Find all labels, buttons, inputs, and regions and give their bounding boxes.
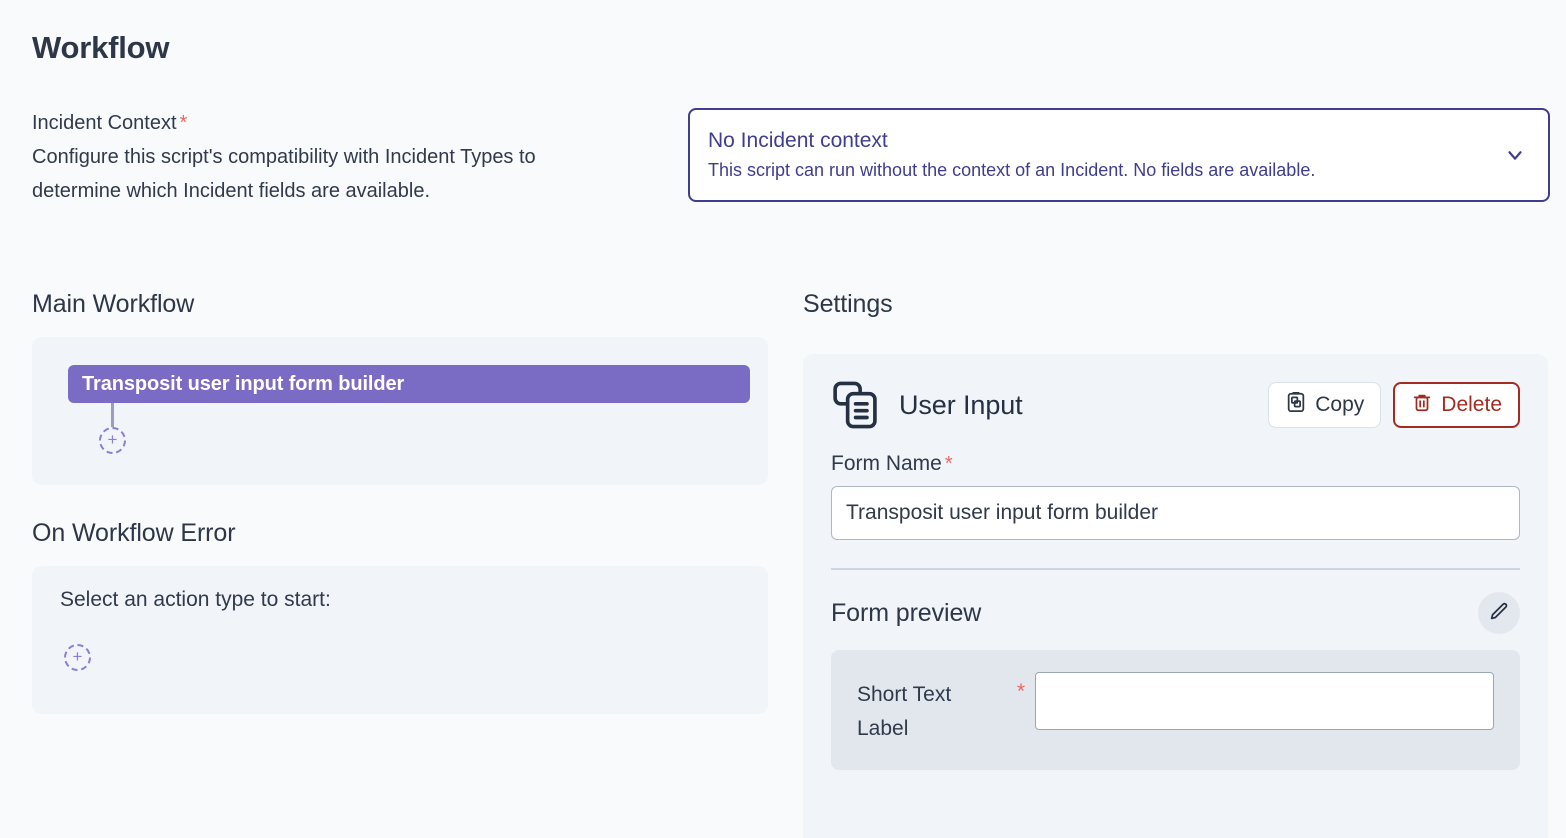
chevron-down-icon[interactable] <box>1504 144 1526 166</box>
trash-icon <box>1411 391 1433 419</box>
incident-context-select[interactable]: No Incident context This script can run … <box>688 108 1550 202</box>
incident-context-label: Incident Context* <box>32 108 632 139</box>
delete-button[interactable]: Delete <box>1393 382 1520 428</box>
user-input-icon <box>831 380 887 430</box>
incident-context-text-block: Incident Context* Configure this script'… <box>32 108 632 208</box>
clipboard-copy-icon <box>1285 391 1307 419</box>
add-step-button-error[interactable]: + <box>64 644 91 671</box>
form-preview-header: Form preview <box>831 592 1520 634</box>
workflow-error-heading: On Workflow Error <box>32 519 800 548</box>
incident-context-select-text: No Incident context This script can run … <box>708 126 1488 184</box>
preview-field-input[interactable] <box>1035 672 1494 730</box>
form-preview-body: Short Text Label * <box>831 650 1520 770</box>
incident-context-selected-title: No Incident context <box>708 126 1488 155</box>
settings-panel-title: User Input <box>899 390 1268 421</box>
form-name-label: Form Name* <box>831 452 1520 476</box>
workflow-node-label: Transposit user input form builder <box>82 373 404 396</box>
settings-heading: Settings <box>803 290 1566 319</box>
incident-context-row: Incident Context* Configure this script'… <box>0 108 1566 248</box>
incident-context-description: Configure this script's compatibility wi… <box>32 140 602 208</box>
workflow-error-canvas: Select an action type to start: + <box>32 566 768 714</box>
required-asterisk: * <box>1007 672 1035 704</box>
form-name-input[interactable] <box>831 486 1520 540</box>
preview-field-label: Short Text Label <box>857 672 1007 745</box>
required-asterisk: * <box>945 453 953 475</box>
workflow-node-user-input[interactable]: Transposit user input form builder <box>68 365 750 403</box>
page-title: Workflow <box>32 30 169 66</box>
settings-panel-header: User Input Copy <box>831 380 1520 430</box>
required-asterisk: * <box>180 112 188 134</box>
main-workflow-canvas: Transposit user input form builder + <box>32 337 768 485</box>
workflow-error-prompt: Select an action type to start: <box>60 588 331 612</box>
plus-icon: + <box>108 431 118 448</box>
add-step-button-main[interactable]: + <box>99 427 126 454</box>
main-workflow-heading: Main Workflow <box>32 290 800 319</box>
node-connector-line <box>111 403 114 427</box>
delete-button-label: Delete <box>1441 393 1502 417</box>
settings-panel: User Input Copy <box>803 354 1548 838</box>
copy-button[interactable]: Copy <box>1268 382 1381 428</box>
form-name-label-text: Form Name <box>831 452 942 475</box>
settings-divider <box>831 568 1520 570</box>
form-preview-title: Form preview <box>831 599 981 628</box>
incident-context-selected-subtitle: This script can run without the context … <box>708 158 1488 183</box>
edit-form-button[interactable] <box>1478 592 1520 634</box>
plus-icon: + <box>73 648 83 665</box>
workflow-column: Main Workflow Transposit user input form… <box>0 290 800 714</box>
copy-button-label: Copy <box>1315 393 1364 417</box>
pencil-icon <box>1488 601 1510 626</box>
settings-column: Settings User Input <box>803 290 1566 838</box>
incident-context-label-text: Incident Context <box>32 112 177 134</box>
